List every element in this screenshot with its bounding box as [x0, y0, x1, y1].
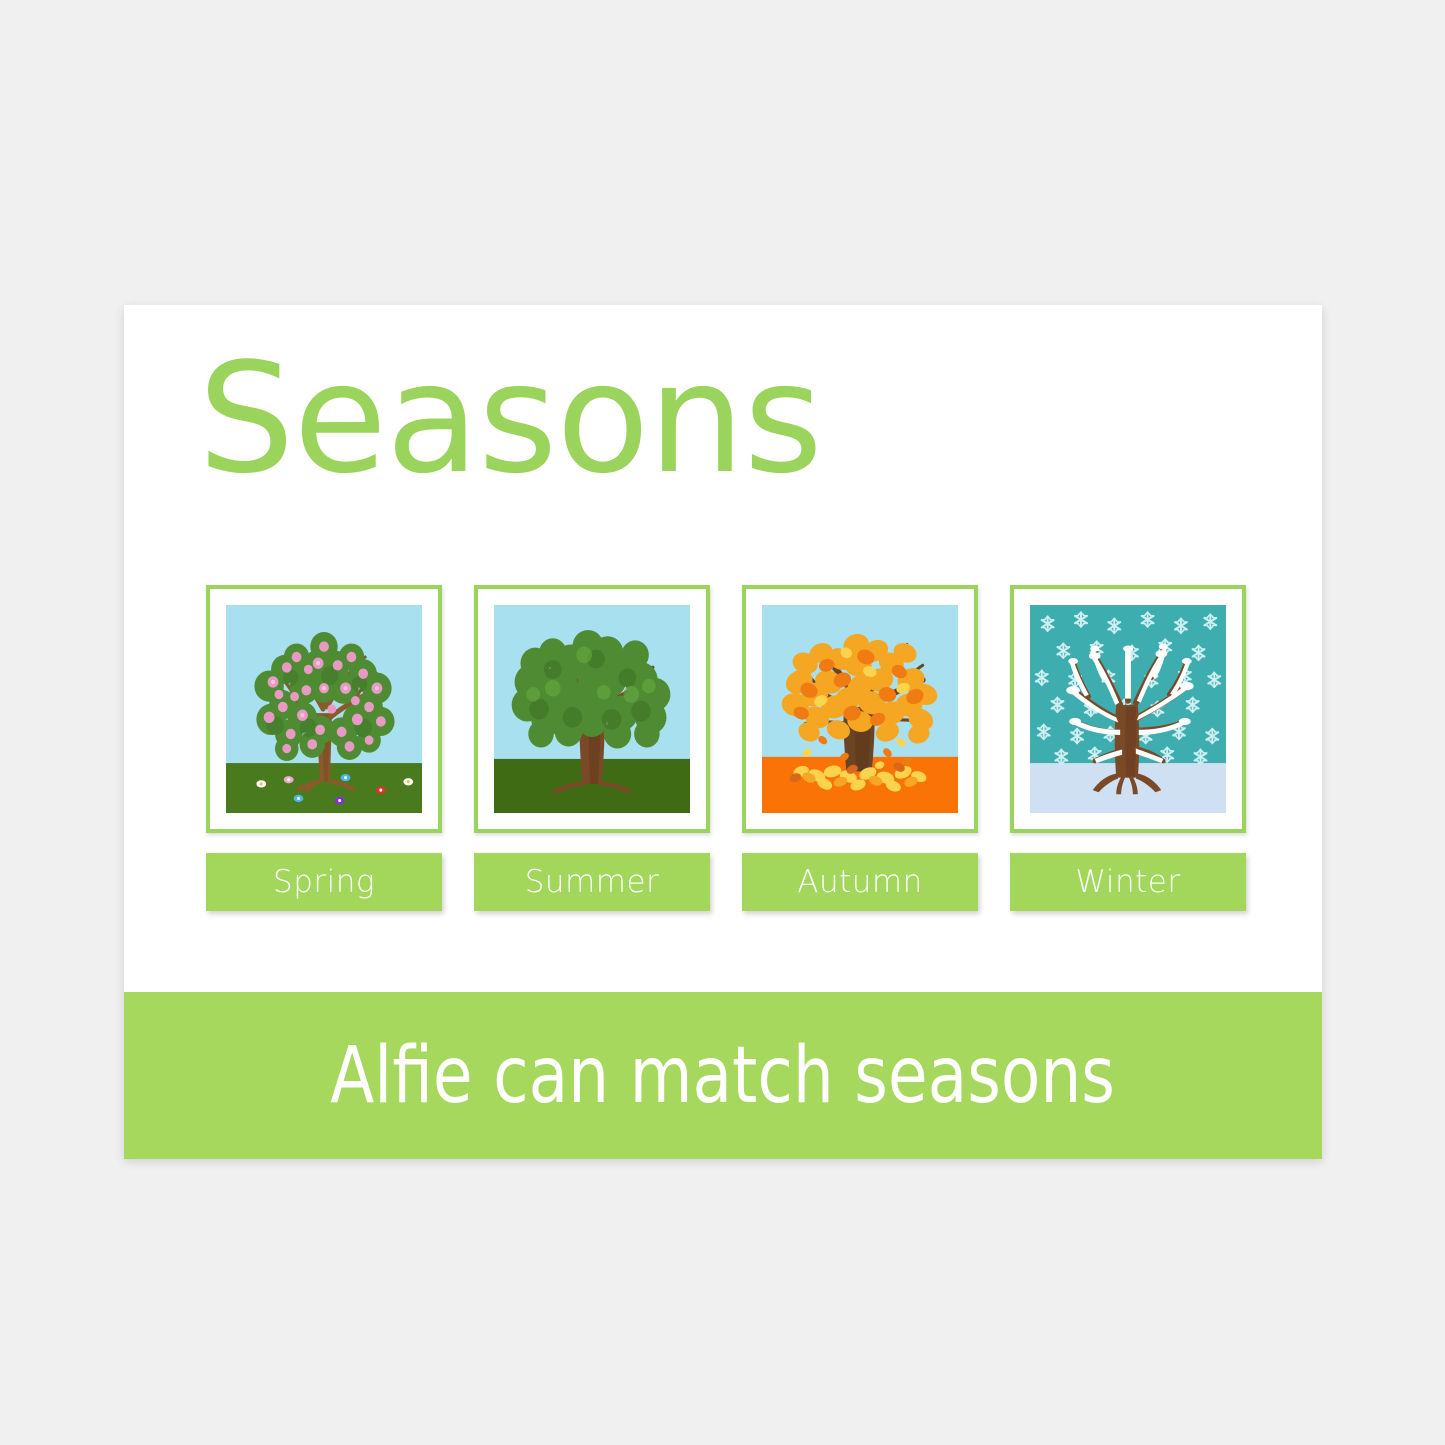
winter-tree-icon: [1030, 605, 1226, 813]
banner-text: Alfie can match seasons: [331, 1031, 1116, 1121]
autumn-tree-icon: [762, 605, 958, 813]
summer-tree-icon: [494, 605, 690, 813]
poster-stage: Seasons: [0, 0, 1445, 1445]
spring-tree-icon: [226, 605, 422, 813]
season-label-text: Spring: [273, 864, 375, 900]
season-item-spring[interactable]: Spring: [206, 585, 442, 911]
season-item-autumn[interactable]: Autumn: [742, 585, 978, 911]
page-title: Seasons: [198, 343, 822, 495]
season-label-text: Winter: [1075, 864, 1180, 900]
season-label-summer[interactable]: Summer: [474, 853, 710, 911]
seasons-card-row: Spring: [206, 585, 1246, 911]
summer-picture-card[interactable]: [474, 585, 710, 833]
season-item-winter[interactable]: Winter: [1010, 585, 1246, 911]
spring-picture-card[interactable]: [206, 585, 442, 833]
bottom-banner: Alfie can match seasons: [124, 992, 1322, 1159]
season-label-spring[interactable]: Spring: [206, 853, 442, 911]
season-label-winter[interactable]: Winter: [1010, 853, 1246, 911]
season-label-autumn[interactable]: Autumn: [742, 853, 978, 911]
season-item-summer[interactable]: Summer: [474, 585, 710, 911]
seasons-poster: Seasons: [124, 305, 1322, 1159]
autumn-picture-card[interactable]: [742, 585, 978, 833]
season-label-text: Summer: [525, 864, 660, 900]
season-label-text: Autumn: [797, 864, 923, 900]
winter-picture-card[interactable]: [1010, 585, 1246, 833]
